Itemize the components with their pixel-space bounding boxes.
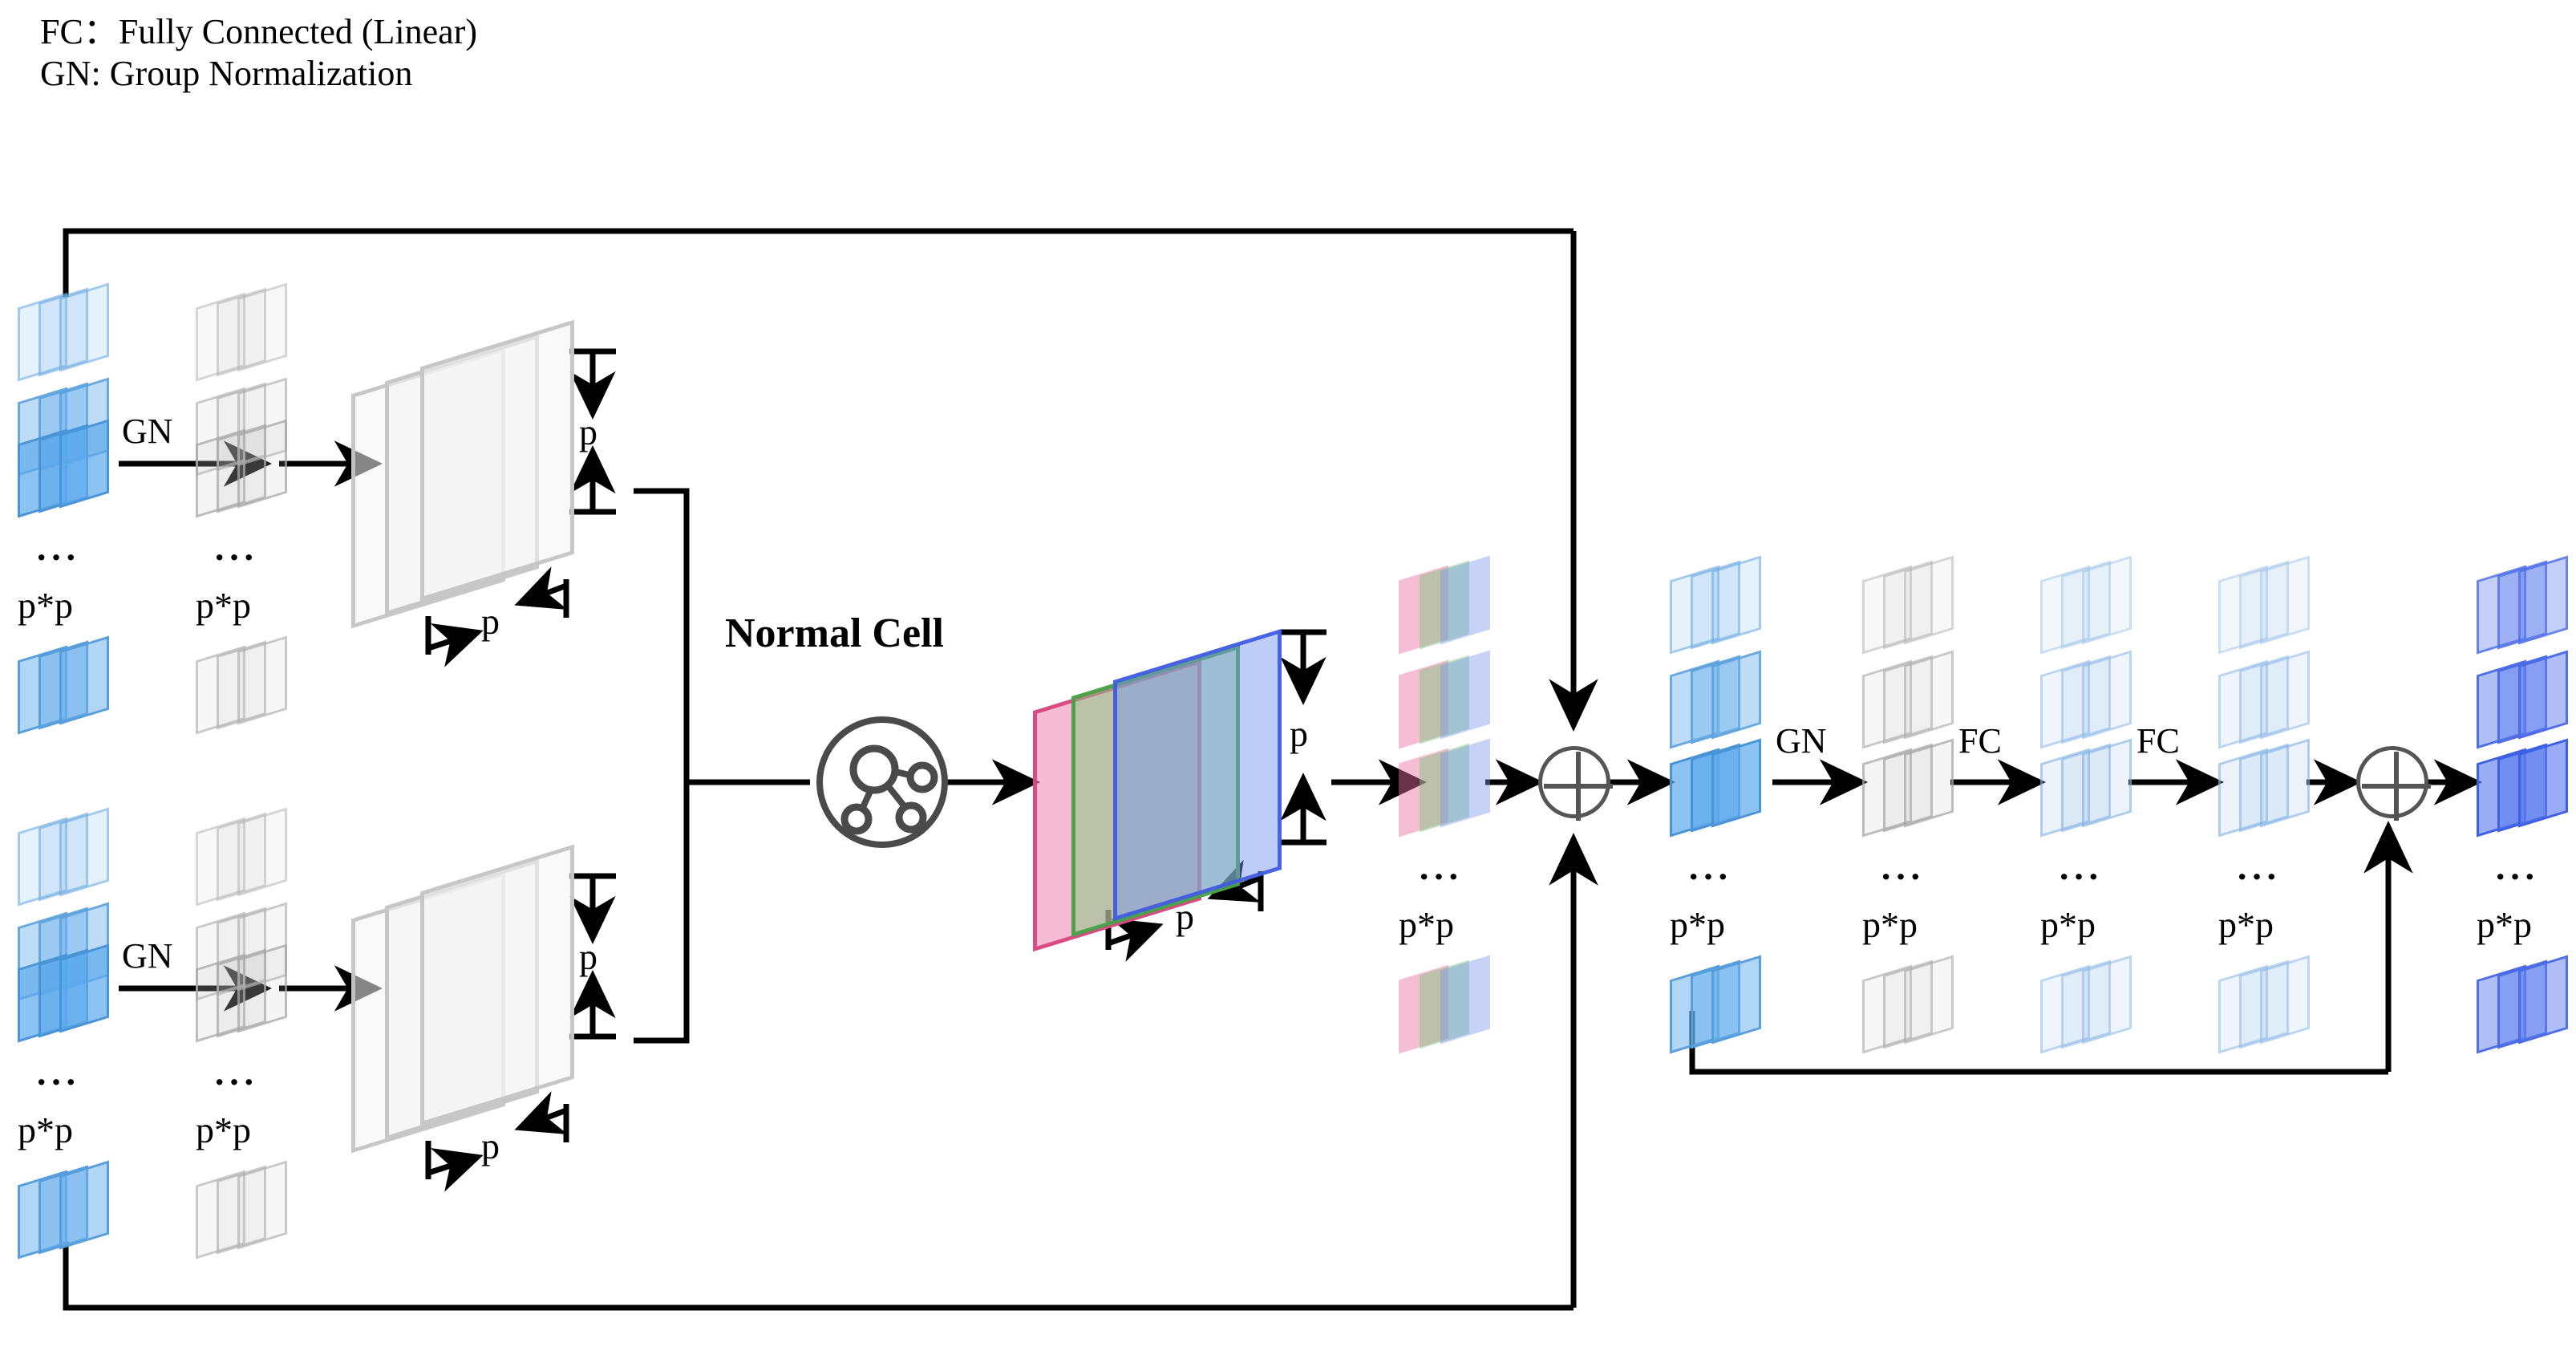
ellipsis-label: ··· <box>2236 855 2280 898</box>
op-label-fc-1: FC <box>1958 720 2002 761</box>
size-label: p*p <box>1670 903 1725 946</box>
token-card-stack <box>1399 562 1495 648</box>
dim-label-height-bottom: p <box>579 935 597 978</box>
op-label-gn-top: GN <box>122 411 173 452</box>
wire-merge-bracket <box>634 491 810 1041</box>
ellipsis-label: ··· <box>35 1061 79 1103</box>
size-label: p*p <box>1862 903 1918 946</box>
head-card-stack <box>2040 961 2137 1048</box>
head-card-stack <box>2218 656 2315 743</box>
feature-card-stack <box>18 289 114 375</box>
head-card-stack <box>2218 562 2315 648</box>
op-label-gn-head: GN <box>1776 720 1827 761</box>
op-label-gn-bottom: GN <box>122 935 173 976</box>
feature-card-stack <box>18 642 114 728</box>
ellipsis-label: ··· <box>1880 855 1924 898</box>
feature-card-stack <box>18 813 114 900</box>
diagram-canvas: FC：Fully Connected (Linear) GN: Group No… <box>0 0 2576 1355</box>
head-card-stack <box>1862 562 1958 648</box>
feature-card-stack-active <box>18 425 114 512</box>
normalized-card-stack <box>196 642 292 728</box>
head-card-stack <box>2040 656 2137 743</box>
normalized-card-stack <box>196 813 292 900</box>
dim-label-depth-top: p <box>481 600 500 643</box>
dim-label-depth-bottom: p <box>481 1125 500 1167</box>
add-node-1[interactable] <box>1538 746 1610 818</box>
ellipsis-label: ··· <box>1687 855 1732 898</box>
normal-cell-title: Normal Cell <box>725 610 944 657</box>
head-card-stack <box>2218 744 2315 831</box>
ellipsis-label: ··· <box>35 536 79 578</box>
legend: FC：Fully Connected (Linear) GN: Group No… <box>40 11 1002 95</box>
feature-card-stack-active <box>18 950 114 1037</box>
normal-cell-node[interactable] <box>810 710 954 854</box>
head-card-stack <box>1670 961 1766 1048</box>
feature-card-stack <box>18 1166 114 1253</box>
head-card-stack <box>1670 562 1766 648</box>
ellipsis-label: ··· <box>213 536 257 578</box>
head-card-stack <box>1862 656 1958 743</box>
op-label-fc-2: FC <box>2137 720 2180 761</box>
ellipsis-label: ··· <box>2058 855 2102 898</box>
head-card-stack <box>1862 961 1958 1048</box>
dim-label-height-cell: p <box>1290 712 1308 755</box>
dim-label-depth-cell: p <box>1176 895 1194 938</box>
normalized-card-stack <box>196 1166 292 1253</box>
normalized-card-stack <box>196 425 292 512</box>
output-card-stack <box>2477 562 2573 648</box>
legend-line-fc: FC：Fully Connected (Linear) <box>40 11 1002 53</box>
head-card-stack <box>1670 656 1766 743</box>
dim-label-height-top: p <box>579 411 597 453</box>
size-label: p*p <box>196 1109 251 1151</box>
head-card-stack <box>1862 744 1958 831</box>
output-card-stack-active <box>2477 744 2573 831</box>
ellipsis-label: ··· <box>2494 855 2538 898</box>
plus-circle-icon <box>2360 750 2432 822</box>
output-card-stack <box>2477 656 2573 743</box>
head-card-stack-active <box>1670 744 1766 831</box>
token-card-stack <box>1399 656 1495 743</box>
size-label: p*p <box>2218 903 2274 946</box>
size-label: p*p <box>18 584 73 627</box>
head-card-stack <box>2040 744 2137 831</box>
graph-node-icon <box>810 710 954 854</box>
normalized-card-stack <box>196 950 292 1037</box>
big-feature-volume-top <box>351 329 608 618</box>
skip-connection-bottom <box>66 838 1574 1308</box>
head-card-stack <box>2040 562 2137 648</box>
size-label: p*p <box>1399 903 1454 946</box>
token-card-stack-active <box>1399 744 1495 831</box>
size-label: p*p <box>196 584 251 627</box>
legend-line-gn: GN: Group Normalization <box>40 53 1002 95</box>
cell-output-volume <box>1033 634 1338 939</box>
size-label: p*p <box>2040 903 2096 946</box>
ellipsis-label: ··· <box>213 1061 257 1103</box>
plus-circle-icon <box>1542 750 1614 822</box>
big-feature-volume-bottom <box>351 854 608 1142</box>
ellipsis-label: ··· <box>1418 855 1462 898</box>
output-card-stack <box>2477 961 2573 1048</box>
head-card-stack <box>2218 961 2315 1048</box>
size-label: p*p <box>18 1109 73 1151</box>
add-node-2[interactable] <box>2356 746 2428 818</box>
token-card-stack <box>1399 961 1495 1048</box>
normalized-card-stack <box>196 289 292 375</box>
size-label: p*p <box>2477 903 2532 946</box>
